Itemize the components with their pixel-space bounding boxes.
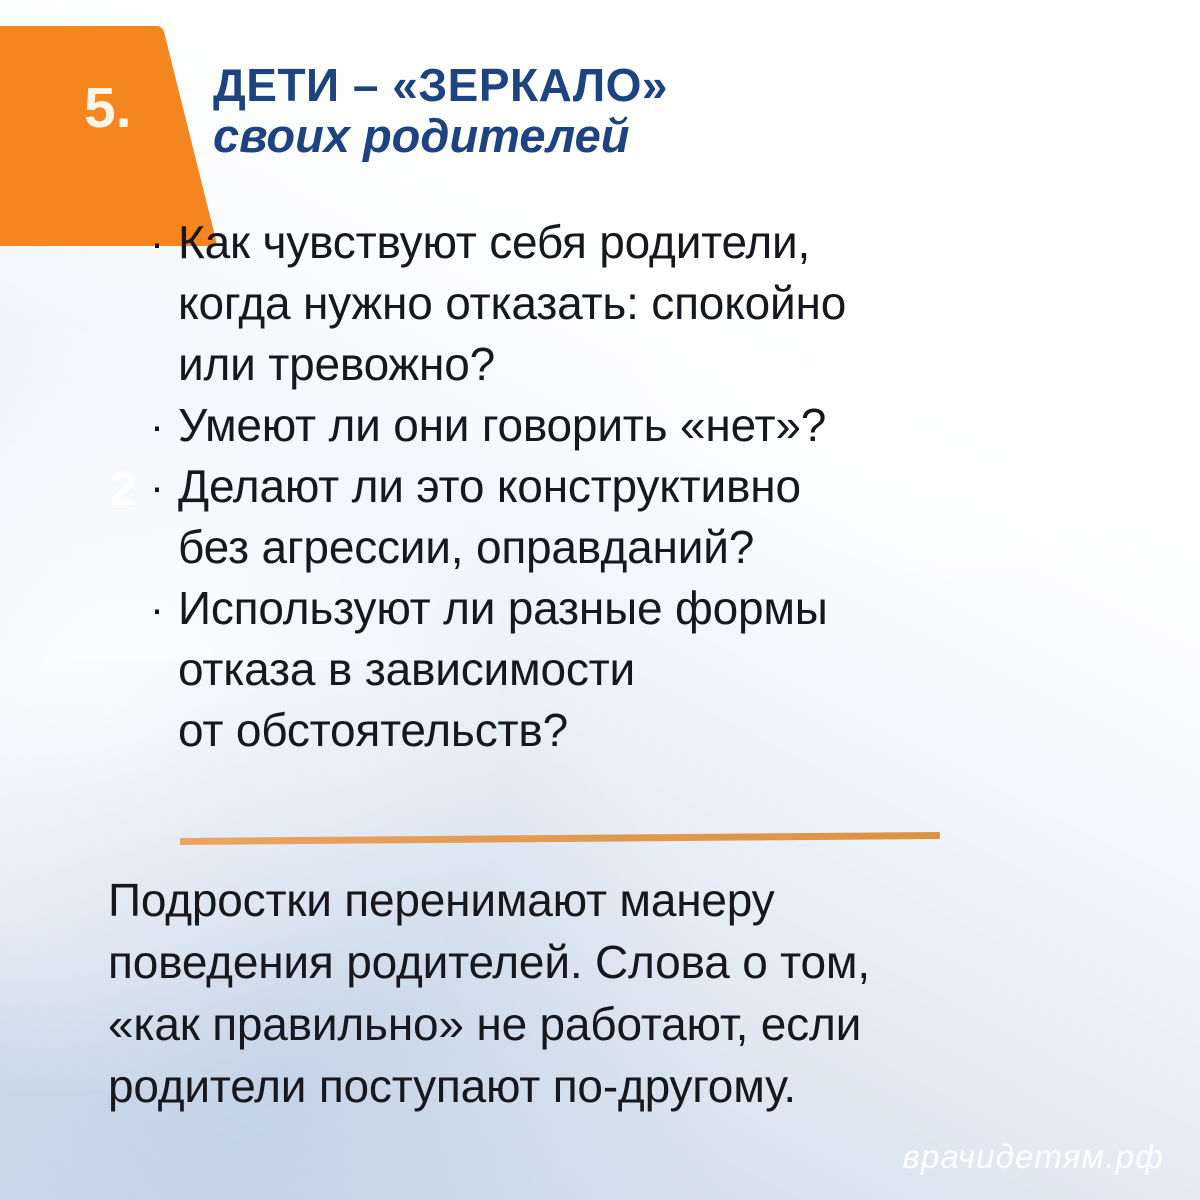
question-bullet-list: · Как чувствуют себя родители, когда нуж…: [142, 212, 1152, 761]
slide-canvas: 5. ДЕТИ – «ЗЕРКАЛО» своих родителей 2 · …: [0, 0, 1200, 1200]
list-item-text: Делают ли это конструктивно без агрессии…: [178, 456, 1152, 578]
slide-number-badge: 5.: [84, 80, 132, 137]
title-line-secondary: своих родителей: [213, 111, 668, 160]
title-line-primary: ДЕТИ – «ЗЕРКАЛО»: [213, 62, 668, 109]
conclusion-paragraph: Подростки перенимают манеру поведения ро…: [108, 869, 1168, 1117]
site-watermark: врачидетям.рф: [903, 1138, 1164, 1176]
faint-number-watermark: 2: [110, 466, 137, 514]
slide-title: ДЕТИ – «ЗЕРКАЛО» своих родителей: [213, 62, 668, 160]
list-item: · Делают ли это конструктивно без агресс…: [142, 456, 1152, 578]
bullet-dot-icon: ·: [142, 578, 178, 639]
bullet-dot-icon: ·: [142, 456, 178, 517]
list-item: · Используют ли разные формы отказа в за…: [142, 578, 1152, 761]
list-item: · Умеют ли они говорить «нет»?: [142, 395, 1152, 456]
list-item-text: Используют ли разные формы отказа в зави…: [178, 578, 1152, 761]
list-item-text: Как чувствуют себя родители, когда нужно…: [178, 212, 1152, 395]
bullet-dot-icon: ·: [142, 395, 178, 456]
bullet-dot-icon: ·: [142, 212, 178, 273]
list-item: · Как чувствуют себя родители, когда нуж…: [142, 212, 1152, 395]
list-item-text: Умеют ли они говорить «нет»?: [178, 395, 1152, 456]
